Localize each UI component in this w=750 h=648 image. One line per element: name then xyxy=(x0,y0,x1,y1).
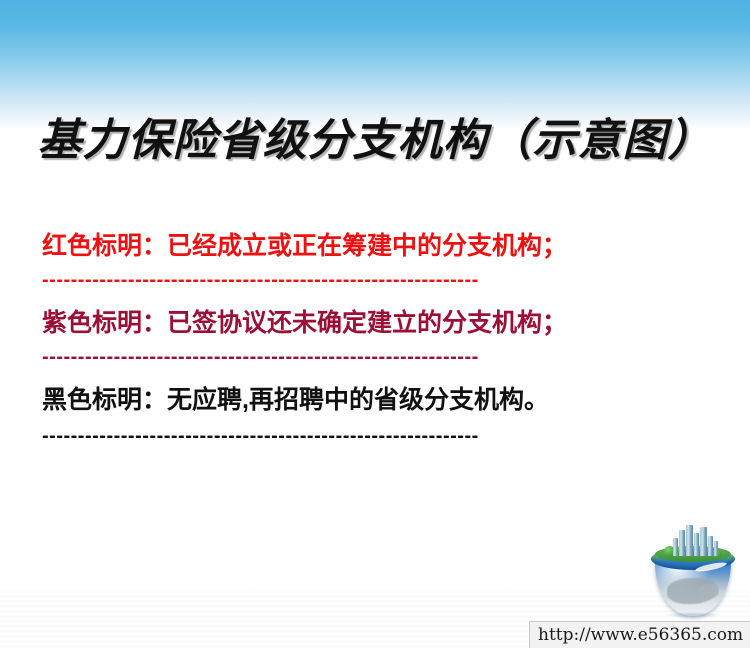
legend-label-black: 黑色标明： xyxy=(42,386,167,414)
legend-row-purple: 紫色标明：已签协议还未确定建立的分支机构； xyxy=(42,311,682,336)
legend-text-red: 已经成立或正在筹建中的分支机构； xyxy=(167,232,567,260)
legend-label-purple: 紫色标明： xyxy=(42,309,167,337)
legend-row-black: 黑色标明：无应聘,再招聘中的省级分支机构。 xyxy=(42,388,682,413)
watermark-url: http://www.e56365.com xyxy=(538,625,743,645)
slide-title: 基力保险省级分支机构（示意图） xyxy=(0,104,750,168)
legend-divider-red: ----------------------------------------… xyxy=(42,278,682,292)
legend-spacer-5 xyxy=(42,413,682,434)
legend-divider-purple-dashes: ----------------------------------------… xyxy=(42,355,479,369)
legend-row-red: 红色标明：已经成立或正在筹建中的分支机构； xyxy=(42,234,682,259)
building-icon-3 xyxy=(694,533,699,556)
legend-text-black: 无应聘,再招聘中的省级分支机构。 xyxy=(167,386,549,414)
building-icon-6 xyxy=(673,538,678,556)
legend-divider-black: ----------------------------------------… xyxy=(42,434,682,448)
legend-text-purple: 已签协议还未确定建立的分支机构； xyxy=(167,309,567,337)
globe-city-logo xyxy=(645,524,741,616)
legend-divider-red-dashes: ----------------------------------------… xyxy=(42,278,479,292)
globe-landmass-secondary-icon xyxy=(697,584,719,598)
legend-spacer-1 xyxy=(42,259,682,278)
legend-divider-purple: ----------------------------------------… xyxy=(42,355,682,369)
building-icon-5 xyxy=(708,536,713,556)
legend-spacer-3 xyxy=(42,336,682,355)
building-icon-4 xyxy=(700,527,707,556)
watermark-box: http://www.e56365.com xyxy=(529,621,750,648)
slide-canvas: 基力保险省级分支机构（示意图） 红色标明：已经成立或正在筹建中的分支机构； --… xyxy=(0,0,750,648)
legend-label-red: 红色标明： xyxy=(42,232,167,260)
building-icon-7 xyxy=(714,541,718,556)
legend-block: 红色标明：已经成立或正在筹建中的分支机构； ------------------… xyxy=(42,234,682,448)
building-icon-2 xyxy=(686,525,693,556)
logo-reflection xyxy=(665,612,721,618)
legend-divider-black-dashes: ----------------------------------------… xyxy=(42,434,479,448)
building-icon-1 xyxy=(679,530,685,556)
